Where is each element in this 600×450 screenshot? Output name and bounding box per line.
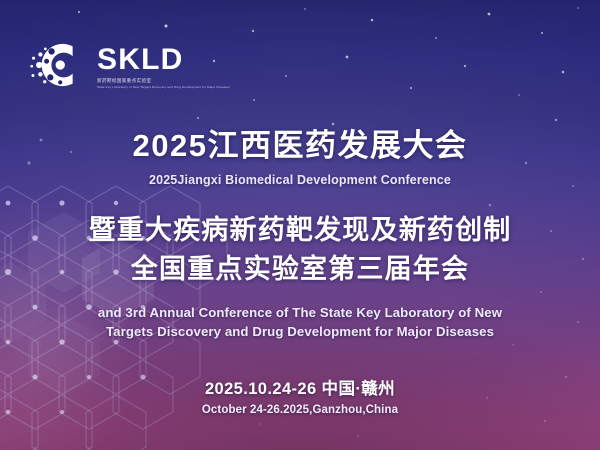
subtitle-en-line-1: and 3rd Annual Conference of The State K… — [14, 303, 586, 322]
subtitle-cn-line-2: 全国重点实验室第三届年会 — [14, 250, 586, 289]
event-date-location-en: October 24-26.2025,Ganzhou,China — [0, 404, 600, 418]
logo-acronym: SKLD — [97, 45, 230, 75]
skld-logo[interactable]: SKLD 新药靶标国家重点实验室 State Key Laboratory of… — [28, 34, 230, 96]
logo-cn-name: 新药靶标国家重点实验室 — [97, 78, 230, 84]
page-title-english: 2025Jiangxi Biomedical Development Confe… — [14, 173, 586, 188]
conference-poster: SKLD 新药靶标国家重点实验室 State Key Laboratory of… — [0, 0, 600, 450]
subtitle-en-line-2: Targets Discovery and Drug Development f… — [14, 322, 586, 341]
poster-footer: 2025.10.24-26 中国·赣州 October 24-26.2025,G… — [0, 380, 600, 418]
subtitle-cn-line-1: 暨重大疾病新药靶发现及新药创制 — [14, 210, 586, 251]
logo-en-name: State Key Laboratory of New Targets Disc… — [97, 85, 230, 89]
logo-wordmark: SKLD 新药靶标国家重点实验室 State Key Laboratory of… — [97, 41, 230, 89]
poster-title-block: 2025江西医药发展大会 2025Jiangxi Biomedical Deve… — [0, 128, 600, 342]
skld-c-molecule-icon — [28, 34, 90, 96]
event-date-location-cn: 2025.10.24-26 中国·赣州 — [0, 380, 600, 400]
page-title: 2025江西医药发展大会 — [14, 128, 586, 165]
